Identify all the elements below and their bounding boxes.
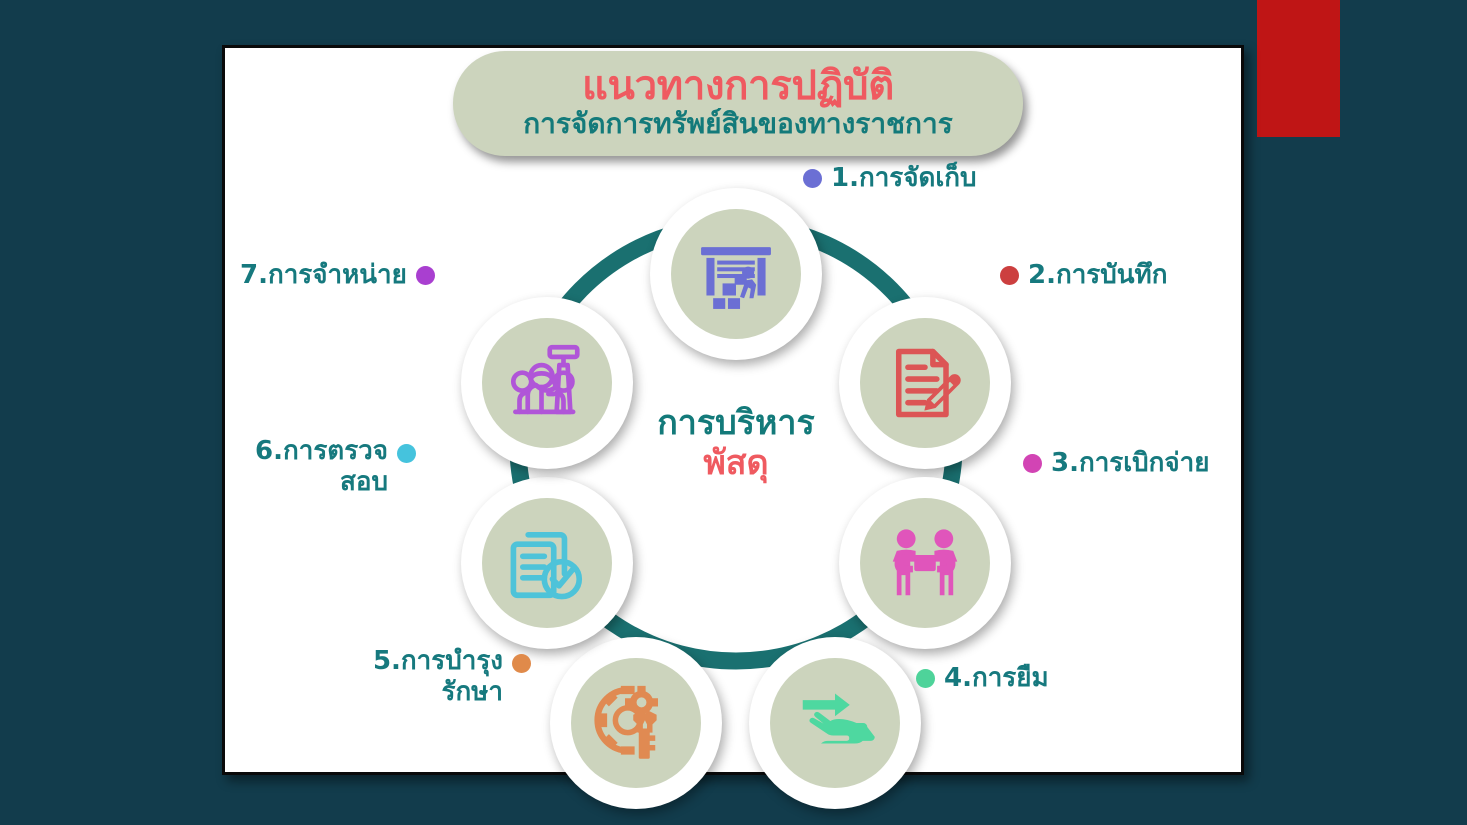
center-label: การบริหาร พัสดุ <box>586 403 886 483</box>
step-4-bullet <box>916 669 935 688</box>
auction-gavel-people-icon <box>503 339 591 427</box>
step-3-text: 3.การเบิกจ่าย <box>1051 448 1209 478</box>
handover-people-icon <box>882 520 968 606</box>
step-7-bullet <box>416 266 435 285</box>
center-line-1: การบริหาร <box>586 403 886 443</box>
step-label-4[interactable]: 4.การยืม <box>916 663 1049 694</box>
step-label-6[interactable]: 6.การตรวจ สอบ <box>218 436 416 497</box>
center-line-2: พัสดุ <box>586 443 886 483</box>
node-1-circle <box>671 209 801 339</box>
wheel-node-1-storage[interactable] <box>650 188 822 360</box>
hand-arrow-lend-icon <box>792 680 878 766</box>
step-5-text: 5.การบำรุง <box>373 646 503 676</box>
content-panel: แนวทางการปฏิบัติ การจัดการทรัพย์สินของทา… <box>222 45 1244 775</box>
red-accent-block <box>1257 0 1340 137</box>
document-pencil-icon <box>883 341 967 425</box>
node-5-circle <box>571 658 701 788</box>
step-6-bullet <box>397 444 416 463</box>
step-1-text: 1.การจัดเก็บ <box>831 163 977 193</box>
step-3-bullet <box>1023 454 1042 473</box>
step-label-2[interactable]: 2.การบันทึก <box>1000 260 1167 291</box>
warehouse-storage-icon <box>693 231 779 317</box>
step-5-bullet <box>512 654 531 673</box>
step-2-text: 2.การบันทึก <box>1028 260 1167 290</box>
step-1-bullet <box>803 169 822 188</box>
wheel-node-3-disbursement[interactable] <box>839 477 1011 649</box>
step-2-bullet <box>1000 266 1019 285</box>
step-label-1[interactable]: 1.การจัดเก็บ <box>803 163 977 194</box>
step-4-text: 4.การยืม <box>944 663 1049 693</box>
step-5-text-line2: รักษา <box>442 677 503 707</box>
slide-canvas: แนวทางการปฏิบัติ การจัดการทรัพย์สินของทา… <box>0 0 1467 825</box>
step-label-5[interactable]: 5.การบำรุง รักษา <box>335 646 531 707</box>
wheel-node-4-borrow[interactable] <box>749 637 921 809</box>
step-6-text: 6.การตรวจ <box>255 436 388 466</box>
node-3-circle <box>860 498 990 628</box>
node-4-circle <box>770 658 900 788</box>
wheel-node-5-maintenance[interactable] <box>550 637 722 809</box>
gear-wrench-maintenance-icon <box>592 679 680 767</box>
step-6-text-line2: สอบ <box>340 467 388 497</box>
node-6-circle <box>482 498 612 628</box>
step-7-text: 7.การจำหน่าย <box>240 260 407 290</box>
step-label-3[interactable]: 3.การเบิกจ่าย <box>1023 448 1209 479</box>
step-label-7[interactable]: 7.การจำหน่าย <box>240 260 435 291</box>
wheel-node-6-audit[interactable] <box>461 477 633 649</box>
process-wheel: การบริหาร พัสดุ 1.การจัดเก็บ 2.การบันทึก… <box>225 48 1247 772</box>
clipboard-check-audit-icon <box>504 520 590 606</box>
